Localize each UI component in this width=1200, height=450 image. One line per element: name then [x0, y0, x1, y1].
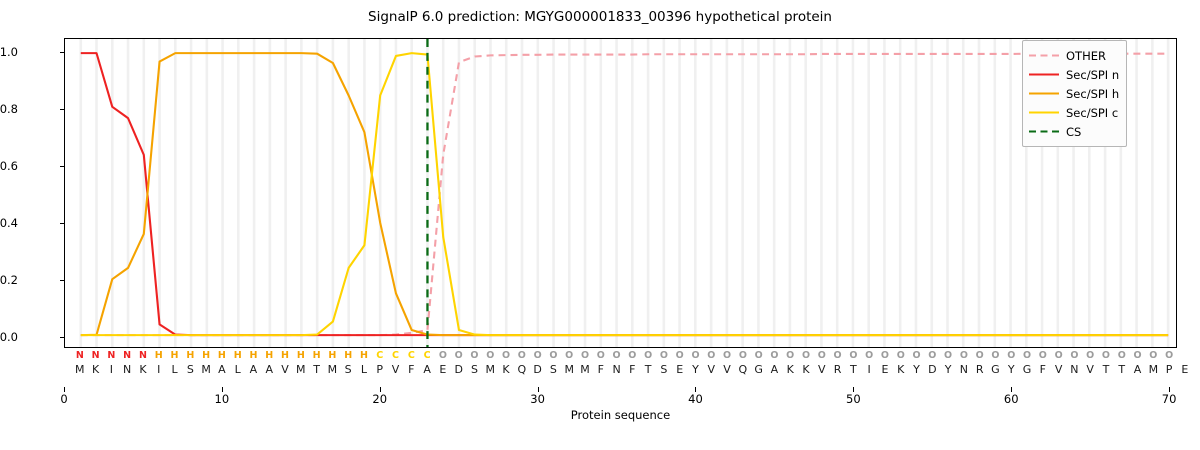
sequence-column: CF	[403, 349, 419, 377]
region-label: O	[924, 349, 940, 362]
x-tick-mark	[1169, 387, 1170, 392]
region-label: O	[1145, 349, 1161, 362]
legend-label: Sec/SPI c	[1066, 106, 1118, 120]
amino-acid-label: G	[988, 362, 1004, 377]
amino-acid-label: N	[119, 362, 135, 377]
amino-acid-label: T	[309, 362, 325, 377]
x-tick-label: 70	[1162, 392, 1177, 406]
sequence-column: HV	[277, 349, 293, 377]
region-label: C	[388, 349, 404, 362]
legend-label: CS	[1066, 125, 1081, 139]
x-axis-label: Protein sequence	[64, 408, 1177, 422]
region-label: N	[135, 349, 151, 362]
amino-acid-label: T	[1114, 362, 1130, 377]
sequence-column: HI	[151, 349, 167, 377]
y-tick-label: 0.4	[0, 216, 18, 230]
amino-acid-label: M	[1145, 362, 1161, 377]
amino-acid-label: A	[214, 362, 230, 377]
amino-acid-label: I	[151, 362, 167, 377]
sequence-column: OR	[972, 349, 988, 377]
sequence-column: OP	[1161, 349, 1177, 377]
sequence-column: OM	[482, 349, 498, 377]
region-label: O	[893, 349, 909, 362]
amino-acid-label: M	[577, 362, 593, 377]
amino-acid-label: N	[609, 362, 625, 377]
amino-acid-label: I	[103, 362, 119, 377]
legend-color-swatch	[1029, 50, 1059, 61]
sequence-column: OQ	[514, 349, 530, 377]
sequence-column: OR	[830, 349, 846, 377]
sequence-column: ON	[1066, 349, 1082, 377]
sequence-column: OQ	[735, 349, 751, 377]
sequence-column: CP	[372, 349, 388, 377]
sequence-column: CV	[388, 349, 404, 377]
region-label: H	[261, 349, 277, 362]
amino-acid-label: K	[893, 362, 909, 377]
sequence-column: OD	[924, 349, 940, 377]
amino-acid-label: V	[388, 362, 404, 377]
region-label: O	[467, 349, 483, 362]
x-tick-mark	[1011, 387, 1012, 392]
region-label: O	[956, 349, 972, 362]
legend-color-swatch	[1029, 88, 1059, 99]
amino-acid-label: S	[656, 362, 672, 377]
sequence-column: OE	[672, 349, 688, 377]
amino-acid-label: S	[182, 362, 198, 377]
region-label: O	[972, 349, 988, 362]
sequence-column: OA	[1130, 349, 1146, 377]
sequence-column: HS	[182, 349, 198, 377]
y-tick-label: 0.8	[0, 102, 18, 116]
x-tick-label: 0	[60, 392, 67, 406]
amino-acid-label: N	[956, 362, 972, 377]
region-label: H	[167, 349, 183, 362]
x-tick-label: 60	[1004, 392, 1019, 406]
sequence-column: OV	[1051, 349, 1067, 377]
amino-acid-label: E	[877, 362, 893, 377]
amino-acid-label: M	[72, 362, 88, 377]
sequence-column: OV	[719, 349, 735, 377]
amino-acid-label: E	[1177, 362, 1193, 377]
region-label: O	[751, 349, 767, 362]
region-label: O	[561, 349, 577, 362]
amino-acid-label: P	[1161, 362, 1177, 377]
amino-acid-label: T	[640, 362, 656, 377]
amino-acid-label: Y	[940, 362, 956, 377]
region-label: O	[672, 349, 688, 362]
amino-acid-label: A	[419, 362, 435, 377]
x-tick-label: 10	[215, 392, 230, 406]
y-tick-label: 1.0	[0, 45, 18, 59]
region-label: O	[545, 349, 561, 362]
sequence-column: OE	[877, 349, 893, 377]
sequence-column: NK	[88, 349, 104, 377]
amino-acid-label: Y	[1003, 362, 1019, 377]
amino-acid-label: K	[88, 362, 104, 377]
legend-label: Sec/SPI h	[1066, 87, 1119, 101]
region-label: O	[656, 349, 672, 362]
legend-item-sec-spi-c[interactable]: Sec/SPI c	[1029, 103, 1119, 122]
region-label: O	[1035, 349, 1051, 362]
chart-title: SignalP 6.0 prediction: MGYG000001833_00…	[0, 9, 1200, 25]
sequence-column: HA	[261, 349, 277, 377]
region-label: O	[1114, 349, 1130, 362]
amino-acid-label: M	[293, 362, 309, 377]
sequence-column: HA	[214, 349, 230, 377]
sequence-column: OS	[656, 349, 672, 377]
sequence-column: OE	[435, 349, 451, 377]
region-label: O	[782, 349, 798, 362]
legend-label: OTHER	[1066, 49, 1106, 63]
amino-acid-label: S	[545, 362, 561, 377]
sequence-column: OY	[909, 349, 925, 377]
region-label: O	[1098, 349, 1114, 362]
amino-acid-label: F	[1035, 362, 1051, 377]
region-label: O	[1082, 349, 1098, 362]
amino-acid-label: K	[498, 362, 514, 377]
legend-item-other[interactable]: OTHER	[1029, 46, 1119, 65]
y-tick-label: 0.6	[0, 159, 18, 173]
sequence-column: HL	[230, 349, 246, 377]
region-label	[1177, 349, 1193, 362]
sequence-column: HS	[340, 349, 356, 377]
plot-area	[64, 38, 1177, 348]
amino-acid-label: K	[782, 362, 798, 377]
x-tick-mark	[853, 387, 854, 392]
x-tick-mark	[380, 387, 381, 392]
region-label: H	[182, 349, 198, 362]
amino-acid-label: E	[435, 362, 451, 377]
amino-acid-label: K	[798, 362, 814, 377]
amino-acid-label: V	[719, 362, 735, 377]
legend-item-cs[interactable]: CS	[1029, 122, 1119, 141]
sequence-column: NK	[135, 349, 151, 377]
amino-acid-label: G	[1019, 362, 1035, 377]
region-label: O	[451, 349, 467, 362]
region-label: H	[356, 349, 372, 362]
sequence-column: OT	[845, 349, 861, 377]
amino-acid-label: T	[1098, 362, 1114, 377]
region-label: H	[151, 349, 167, 362]
sequence-column: OG	[1019, 349, 1035, 377]
sequence-column: HL	[356, 349, 372, 377]
sequence-column: OK	[798, 349, 814, 377]
sequence-column: HM	[198, 349, 214, 377]
amino-acid-label: A	[261, 362, 277, 377]
amino-acid-label: Q	[514, 362, 530, 377]
sequence-column: HA	[246, 349, 262, 377]
x-tick-mark	[64, 387, 65, 392]
sequence-column: OA	[766, 349, 782, 377]
sequence-column: OK	[498, 349, 514, 377]
sequence-column: OF	[593, 349, 609, 377]
sequence-column: OM	[561, 349, 577, 377]
amino-acid-label: R	[830, 362, 846, 377]
sequence-column: OS	[467, 349, 483, 377]
sequence-column: OI	[861, 349, 877, 377]
amino-acid-label: S	[467, 362, 483, 377]
amino-acid-label: V	[814, 362, 830, 377]
region-label: O	[593, 349, 609, 362]
amino-acid-label: S	[340, 362, 356, 377]
legend-item-sec-spi-n[interactable]: Sec/SPI n	[1029, 65, 1119, 84]
x-tick-label: 20	[372, 392, 387, 406]
region-label: H	[230, 349, 246, 362]
region-label: N	[103, 349, 119, 362]
amino-acid-label: E	[672, 362, 688, 377]
region-label: N	[72, 349, 88, 362]
region-label: O	[1003, 349, 1019, 362]
region-label: H	[340, 349, 356, 362]
sequence-column: NM	[72, 349, 88, 377]
region-label: O	[814, 349, 830, 362]
amino-acid-label: V	[277, 362, 293, 377]
sequence-column: HT	[309, 349, 325, 377]
sequence-annotation-rows: NMNKNINNNKHIHLHSHMHAHLHAHAHVHMHTHMHSHLCP…	[64, 349, 1177, 385]
legend-label: Sec/SPI n	[1066, 68, 1119, 82]
sequence-column: OT	[1114, 349, 1130, 377]
sequence-column: OG	[751, 349, 767, 377]
sequence-column: OT	[1098, 349, 1114, 377]
amino-acid-label: V	[1082, 362, 1098, 377]
region-label: O	[1066, 349, 1082, 362]
sequence-column: OY	[688, 349, 704, 377]
x-tick-label: 30	[530, 392, 545, 406]
x-tick-label: 40	[688, 392, 703, 406]
amino-acid-label: L	[356, 362, 372, 377]
sequence-column: OF	[624, 349, 640, 377]
amino-acid-label: A	[766, 362, 782, 377]
amino-acid-label: I	[861, 362, 877, 377]
sequence-column: HM	[324, 349, 340, 377]
sequence-column: HL	[167, 349, 183, 377]
region-label: O	[530, 349, 546, 362]
sequence-column: OM	[1145, 349, 1161, 377]
sequence-column: HM	[293, 349, 309, 377]
amino-acid-label: Y	[909, 362, 925, 377]
data-series-layer	[65, 39, 1176, 347]
amino-acid-label: V	[1051, 362, 1067, 377]
region-label: O	[861, 349, 877, 362]
amino-acid-label: D	[530, 362, 546, 377]
sequence-column: OT	[640, 349, 656, 377]
region-label: O	[609, 349, 625, 362]
region-label: O	[719, 349, 735, 362]
region-label: H	[293, 349, 309, 362]
sequence-column: ON	[956, 349, 972, 377]
x-tick-mark	[538, 387, 539, 392]
region-label: N	[119, 349, 135, 362]
sequence-column: OD	[530, 349, 546, 377]
region-label: O	[1051, 349, 1067, 362]
amino-acid-label: K	[135, 362, 151, 377]
sequence-column: OG	[988, 349, 1004, 377]
region-label: H	[309, 349, 325, 362]
region-label: O	[766, 349, 782, 362]
legend: OTHERSec/SPI nSec/SPI hSec/SPI cCS	[1022, 40, 1127, 147]
region-label: C	[419, 349, 435, 362]
region-label: C	[403, 349, 419, 362]
amino-acid-label: Q	[735, 362, 751, 377]
region-label: N	[88, 349, 104, 362]
sequence-column: ON	[609, 349, 625, 377]
region-label: H	[246, 349, 262, 362]
region-label: O	[624, 349, 640, 362]
amino-acid-label: D	[924, 362, 940, 377]
region-label: O	[703, 349, 719, 362]
sequence-column: OF	[1035, 349, 1051, 377]
y-tick-label: 0.0	[0, 330, 18, 344]
region-label: H	[324, 349, 340, 362]
region-label: O	[577, 349, 593, 362]
amino-acid-label: N	[1066, 362, 1082, 377]
region-label: O	[845, 349, 861, 362]
region-label: H	[214, 349, 230, 362]
amino-acid-label: A	[1130, 362, 1146, 377]
amino-acid-label: L	[230, 362, 246, 377]
legend-color-swatch	[1029, 126, 1059, 137]
amino-acid-label: V	[703, 362, 719, 377]
sequence-column: NI	[103, 349, 119, 377]
region-label: O	[830, 349, 846, 362]
amino-acid-label: T	[845, 362, 861, 377]
region-label: O	[498, 349, 514, 362]
sequence-column: CA	[419, 349, 435, 377]
amino-acid-label: P	[372, 362, 388, 377]
amino-acid-label: L	[167, 362, 183, 377]
sequence-column: OV	[1082, 349, 1098, 377]
legend-color-swatch	[1029, 107, 1059, 118]
amino-acid-label: R	[972, 362, 988, 377]
amino-acid-label: M	[198, 362, 214, 377]
region-label: O	[1019, 349, 1035, 362]
region-label: H	[198, 349, 214, 362]
signalp-prediction-figure: SignalP 6.0 prediction: MGYG000001833_00…	[0, 0, 1200, 450]
region-label: O	[435, 349, 451, 362]
amino-acid-label: F	[624, 362, 640, 377]
amino-acid-label: M	[561, 362, 577, 377]
region-label: O	[640, 349, 656, 362]
sequence-column: OK	[893, 349, 909, 377]
amino-acid-label: Y	[688, 362, 704, 377]
region-label: O	[514, 349, 530, 362]
y-tick-label: 0.2	[0, 273, 18, 287]
legend-color-swatch	[1029, 69, 1059, 80]
region-label: H	[277, 349, 293, 362]
sequence-column: OM	[577, 349, 593, 377]
sequence-column: OY	[940, 349, 956, 377]
amino-acid-label: M	[482, 362, 498, 377]
x-tick-label: 50	[846, 392, 861, 406]
region-label: O	[735, 349, 751, 362]
region-label: O	[940, 349, 956, 362]
amino-acid-label: M	[324, 362, 340, 377]
amino-acid-label: D	[451, 362, 467, 377]
region-label: C	[372, 349, 388, 362]
sequence-column: OS	[545, 349, 561, 377]
region-label: O	[909, 349, 925, 362]
sequence-column: OV	[703, 349, 719, 377]
amino-acid-label: F	[593, 362, 609, 377]
sequence-column: OY	[1003, 349, 1019, 377]
sequence-column: OV	[814, 349, 830, 377]
x-tick-mark	[695, 387, 696, 392]
sequence-column: OD	[451, 349, 467, 377]
amino-acid-label: F	[403, 362, 419, 377]
region-label: O	[1130, 349, 1146, 362]
region-label: O	[877, 349, 893, 362]
sequence-column: OK	[782, 349, 798, 377]
region-label: O	[798, 349, 814, 362]
sequence-column: E	[1177, 349, 1193, 377]
region-label: O	[1161, 349, 1177, 362]
sequence-column: NN	[119, 349, 135, 377]
region-label: O	[688, 349, 704, 362]
legend-item-sec-spi-h[interactable]: Sec/SPI h	[1029, 84, 1119, 103]
x-tick-mark	[222, 387, 223, 392]
amino-acid-label: G	[751, 362, 767, 377]
region-label: O	[988, 349, 1004, 362]
amino-acid-label: A	[246, 362, 262, 377]
region-label: O	[482, 349, 498, 362]
